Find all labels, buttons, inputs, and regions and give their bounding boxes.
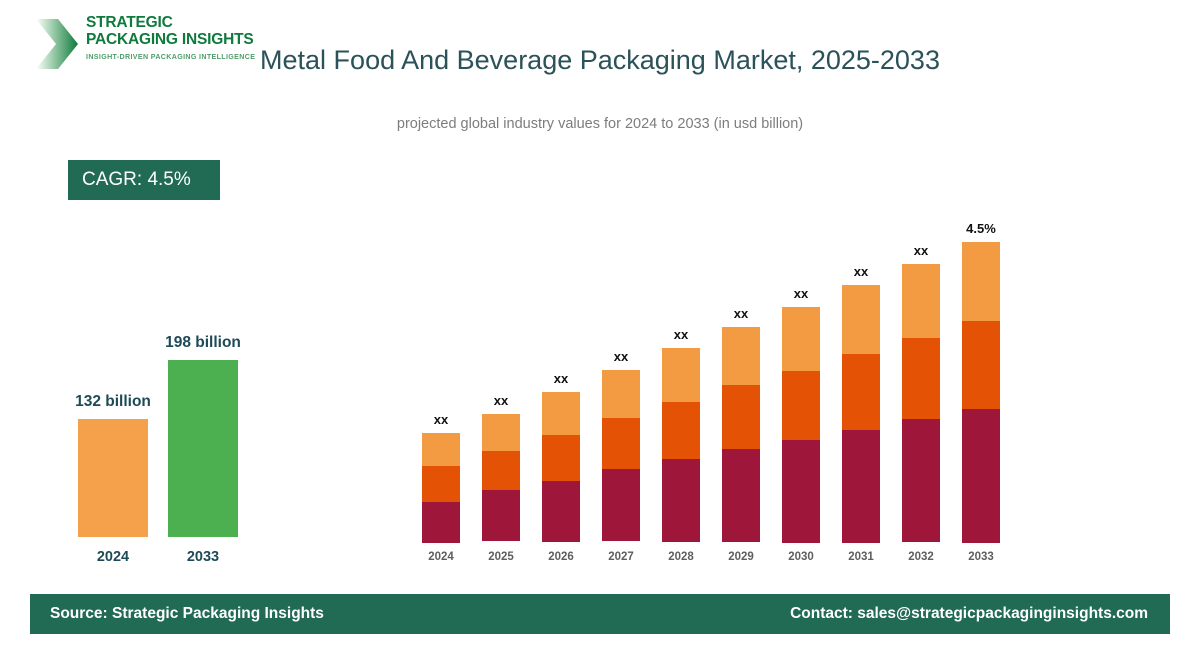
stacked-bar-segment[interactable] xyxy=(662,459,700,542)
stacked-bar-segment[interactable] xyxy=(782,440,820,543)
chart-infographic: STRATEGIC PACKAGING INSIGHTS INSIGHT-DRI… xyxy=(0,0,1200,650)
stacked-bar-segment[interactable] xyxy=(962,242,1000,321)
stacked-value-label: xx xyxy=(464,393,538,408)
stacked-bar-segment[interactable] xyxy=(722,327,760,385)
stacked-bar[interactable] xyxy=(842,285,880,542)
stacked-value-label: xx xyxy=(704,306,778,321)
comparison-value-label: 198 billion xyxy=(138,334,268,352)
stacked-value-label: xx xyxy=(644,327,718,342)
stacked-column: 4.5%2033 xyxy=(962,220,1000,565)
stacked-column: xx2030 xyxy=(782,220,820,565)
brand-name-line1: STRATEGIC xyxy=(86,14,276,31)
stacked-bar-segment[interactable] xyxy=(662,402,700,459)
footer-bar: Source: Strategic Packaging Insights Con… xyxy=(30,594,1170,634)
stacked-bar-segment[interactable] xyxy=(602,370,640,418)
stacked-bar-segment[interactable] xyxy=(962,321,1000,409)
stacked-bar-segment[interactable] xyxy=(902,419,940,542)
stacked-bar[interactable] xyxy=(662,348,700,542)
stacked-year-label: 2031 xyxy=(831,551,891,563)
chevron-arrow-icon xyxy=(34,17,80,71)
stacked-bar-segment[interactable] xyxy=(542,435,580,481)
stacked-value-label: xx xyxy=(524,371,598,386)
stacked-bar-segment[interactable] xyxy=(782,371,820,440)
page-title: Metal Food And Beverage Packaging Market… xyxy=(260,42,940,78)
stacked-bar-segment[interactable] xyxy=(662,348,700,402)
stacked-bar[interactable] xyxy=(782,307,820,542)
stacked-year-label: 2030 xyxy=(771,551,831,563)
stacked-value-label: xx xyxy=(824,264,898,279)
stacked-value-label: xx xyxy=(764,286,838,301)
brand-logo[interactable]: STRATEGIC PACKAGING INSIGHTS INSIGHT-DRI… xyxy=(34,14,274,76)
comparison-bar[interactable] xyxy=(168,360,238,537)
stacked-bar-segment[interactable] xyxy=(722,449,760,542)
stacked-year-label: 2027 xyxy=(591,551,651,563)
stacked-year-label: 2026 xyxy=(531,551,591,563)
comparison-bar-chart: 132 billion2024198 billion2033 xyxy=(60,300,310,570)
stacked-bar[interactable] xyxy=(422,433,460,542)
stacked-column: xx2024 xyxy=(422,220,460,565)
comparison-year-label: 2033 xyxy=(153,549,253,565)
comparison-year-label: 2024 xyxy=(63,549,163,565)
stacked-bar-segment[interactable] xyxy=(842,285,880,354)
stacked-year-label: 2029 xyxy=(711,551,771,563)
stacked-bar-segment[interactable] xyxy=(842,354,880,430)
stacked-bar[interactable] xyxy=(482,414,520,542)
cagr-badge-label: CAGR: 4.5% xyxy=(82,169,191,191)
stacked-year-label: 2024 xyxy=(411,551,471,563)
stacked-bar-segment[interactable] xyxy=(542,481,580,542)
stacked-bar-segment[interactable] xyxy=(962,409,1000,543)
stacked-column: xx2027 xyxy=(602,220,640,565)
comparison-column: 198 billion2033 xyxy=(168,333,238,570)
stacked-value-label: xx xyxy=(404,412,478,427)
stacked-bar[interactable] xyxy=(602,370,640,542)
stacked-bar-segment[interactable] xyxy=(842,430,880,543)
brand-name: STRATEGIC PACKAGING INSIGHTS INSIGHT-DRI… xyxy=(86,14,276,61)
stacked-year-label: 2032 xyxy=(891,551,951,563)
brand-name-line2: PACKAGING INSIGHTS xyxy=(86,31,276,48)
stacked-value-label: xx xyxy=(584,349,658,364)
stacked-bar-chart: xx2024xx2025xx2026xx2027xx2028xx2029xx20… xyxy=(410,195,1010,565)
stacked-bar[interactable] xyxy=(722,327,760,542)
stacked-bar-segment[interactable] xyxy=(482,414,520,451)
stacked-year-label: 2028 xyxy=(651,551,711,563)
comparison-bar[interactable] xyxy=(78,419,148,537)
stacked-bar-segment[interactable] xyxy=(482,451,520,490)
stacked-bar[interactable] xyxy=(962,242,1000,542)
footer-contact[interactable]: Contact: sales@strategicpackaginginsight… xyxy=(790,594,1148,634)
stacked-bar-segment[interactable] xyxy=(422,466,460,502)
stacked-column: xx2031 xyxy=(842,220,880,565)
stacked-bar-segment[interactable] xyxy=(602,418,640,469)
stacked-column: xx2026 xyxy=(542,220,580,565)
stacked-column: xx2025 xyxy=(482,220,520,565)
stacked-bar[interactable] xyxy=(542,392,580,542)
comparison-column: 132 billion2024 xyxy=(78,333,148,570)
stacked-bar-segment[interactable] xyxy=(902,264,940,338)
footer-source: Source: Strategic Packaging Insights xyxy=(50,594,324,634)
stacked-year-label: 2025 xyxy=(471,551,531,563)
stacked-bar-segment[interactable] xyxy=(482,490,520,541)
stacked-column: xx2029 xyxy=(722,220,760,565)
stacked-value-label: xx xyxy=(884,243,958,258)
cagr-badge: CAGR: 4.5% xyxy=(68,160,220,200)
brand-tagline: INSIGHT-DRIVEN PACKAGING INTELLIGENCE xyxy=(86,53,276,61)
stacked-column: xx2032 xyxy=(902,220,940,565)
stacked-value-label: 4.5% xyxy=(944,221,1018,236)
comparison-value-label: 132 billion xyxy=(48,393,178,411)
page-subtitle: projected global industry values for 202… xyxy=(260,116,940,132)
stacked-bar-segment[interactable] xyxy=(902,338,940,419)
stacked-bar-segment[interactable] xyxy=(422,433,460,466)
stacked-bar-segment[interactable] xyxy=(782,307,820,371)
stacked-bar-segment[interactable] xyxy=(542,392,580,435)
stacked-bar-segment[interactable] xyxy=(722,385,760,449)
stacked-column: xx2028 xyxy=(662,220,700,565)
stacked-bar-segment[interactable] xyxy=(422,502,460,543)
stacked-year-label: 2033 xyxy=(951,551,1011,563)
stacked-bar[interactable] xyxy=(902,264,940,542)
stacked-bar-segment[interactable] xyxy=(602,469,640,541)
